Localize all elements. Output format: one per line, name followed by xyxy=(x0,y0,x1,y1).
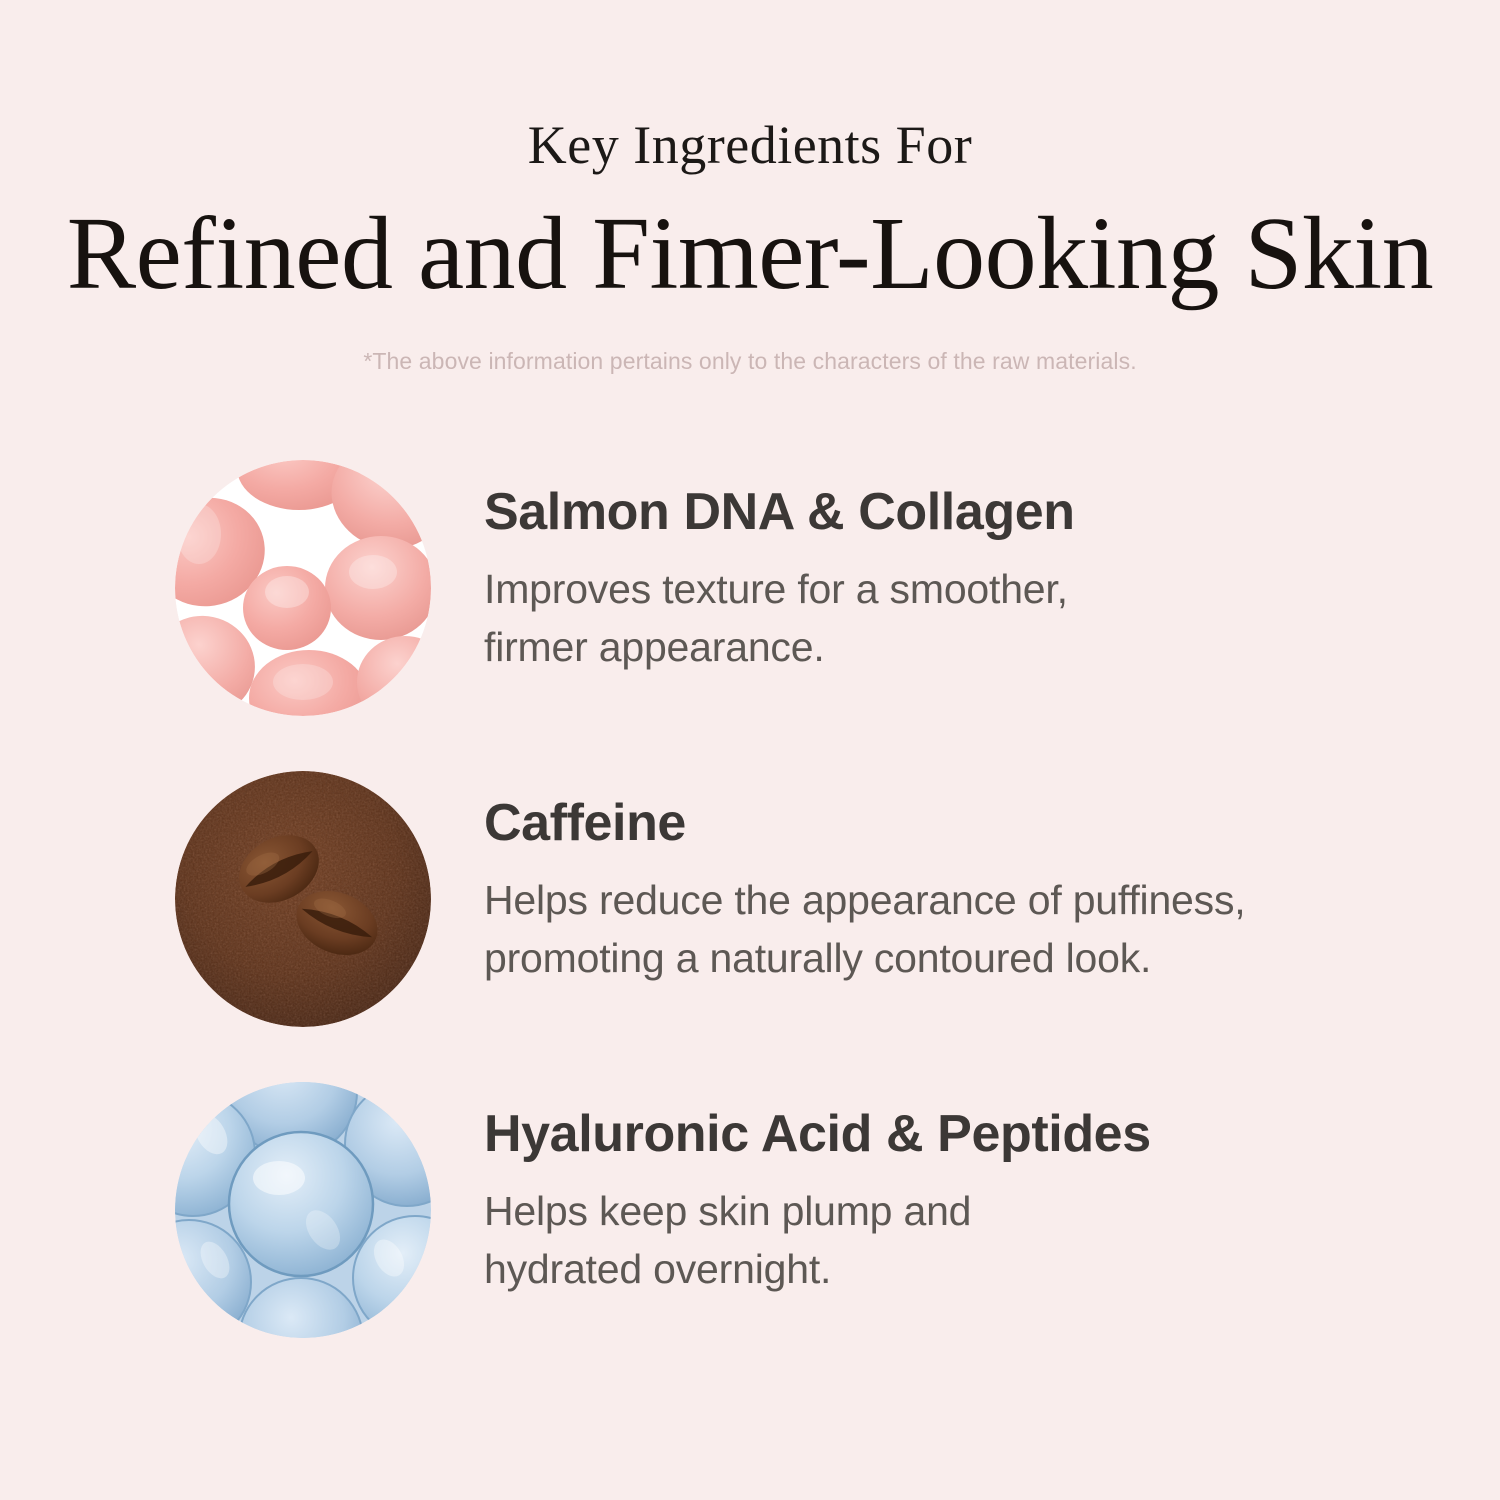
ingredient-copy: Hyaluronic Acid & Peptides Helps keep sk… xyxy=(484,1082,1151,1298)
ingredient-list: Salmon DNA & Collagen Improves texture f… xyxy=(0,460,1500,1393)
eyebrow-text: Key Ingredients For xyxy=(0,118,1500,172)
list-item: Caffeine Helps reduce the appearance of … xyxy=(0,771,1500,1027)
page-title: Refined and Fimer-Looking Skin xyxy=(0,202,1500,306)
ingredient-description: Helps reduce the appearance of puffiness… xyxy=(484,871,1245,987)
coffee-grounds-beans-photo xyxy=(175,771,431,1027)
ingredient-copy: Caffeine Helps reduce the appearance of … xyxy=(484,771,1245,987)
list-item: Salmon DNA & Collagen Improves texture f… xyxy=(0,460,1500,716)
ingredient-title: Caffeine xyxy=(484,796,1245,851)
ingredient-description: Helps keep skin plump and hydrated overn… xyxy=(484,1182,1151,1298)
ingredient-title: Salmon DNA & Collagen xyxy=(484,485,1075,540)
ingredient-title: Hyaluronic Acid & Peptides xyxy=(484,1107,1151,1162)
header: Key Ingredients For Refined and Fimer-Lo… xyxy=(0,0,1500,375)
list-item: Hyaluronic Acid & Peptides Helps keep sk… xyxy=(0,1082,1500,1338)
ingredient-description: Improves texture for a smoother, firmer … xyxy=(484,560,1075,676)
pink-collagen-capsules-photo xyxy=(175,460,431,716)
blue-hyaluronic-spheres-photo xyxy=(175,1082,431,1338)
disclaimer-note: *The above information pertains only to … xyxy=(0,348,1500,375)
ingredient-copy: Salmon DNA & Collagen Improves texture f… xyxy=(484,460,1075,676)
